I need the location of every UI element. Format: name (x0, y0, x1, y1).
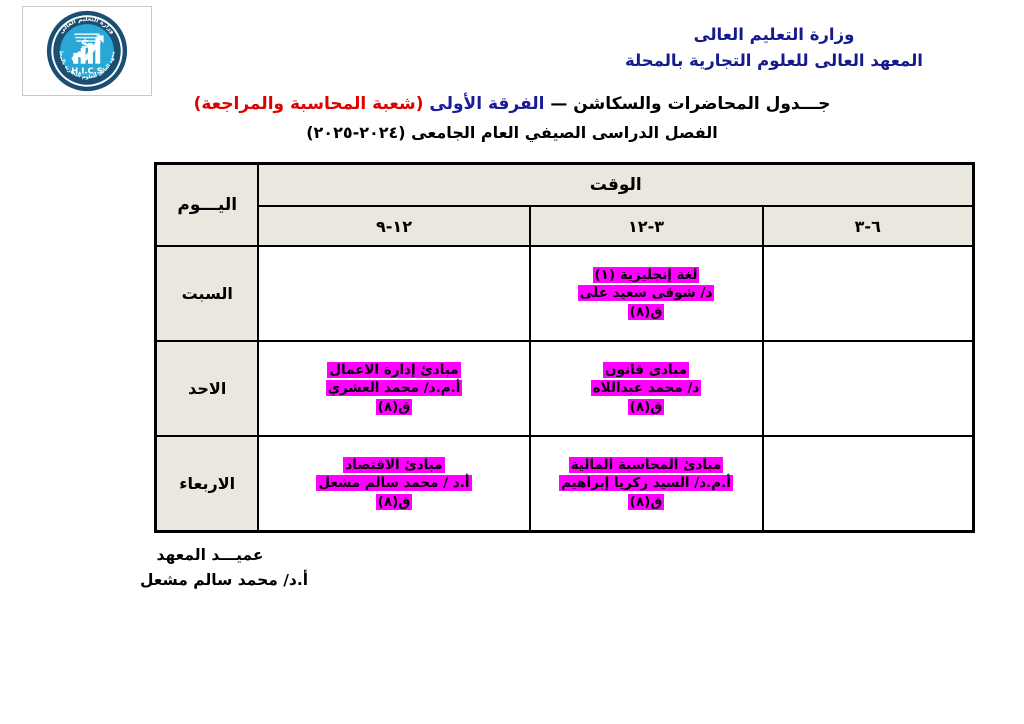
session-block: مبادئ المحاسبة المالية أ.م.د/ السيد زكري… (531, 456, 762, 512)
table-header-row-slots: ٦-٣ ٣-١٢ ١٢-٩ (155, 206, 973, 246)
signature-block: عميـــد المعهد أ.د/ محمد سالم مشعل (105, 543, 315, 593)
slot-header-12-3: ٣-١٢ (530, 206, 763, 246)
session-room: ق(٨) (376, 399, 413, 415)
cell-saturday-3-6[interactable] (763, 246, 974, 341)
schedule-table: الوقت اليـــوم ٦-٣ ٣-١٢ ١٢-٩ (154, 162, 975, 533)
slot-header-9-12: ١٢-٩ (258, 206, 529, 246)
cell-sunday-12-3[interactable]: مبادى قانون د/ محمد عبداللاه ق(٨) (530, 341, 763, 436)
table-row: مبادى قانون د/ محمد عبداللاه ق(٨) مبادئ … (155, 341, 973, 436)
institute-logo: $ H.I.C.S وزارة التعليم العالى المعهد ال… (22, 6, 152, 96)
cell-wednesday-3-6[interactable] (763, 436, 974, 532)
institution-header: وزارة التعليم العالى المعهد العالى للعلو… (564, 22, 984, 73)
logo-micro-text (74, 33, 99, 41)
session-course: مبادئ المحاسبة المالية (569, 457, 724, 473)
cell-sunday-9-12[interactable]: مبادئ إدارة الاعمال أ.م.د/ محمد العشري ق… (258, 341, 529, 436)
table-row: مبادئ المحاسبة المالية أ.م.د/ السيد زكري… (155, 436, 973, 532)
cell-sunday-3-6[interactable] (763, 341, 974, 436)
session-block: لغة إنجليزية (١) د/ شوقى سعيد على ق(٨) (531, 266, 762, 322)
logo-graphic: $ H.I.C.S وزارة التعليم العالى المعهد ال… (23, 7, 151, 95)
session-room: ق(٨) (628, 494, 665, 510)
session-course: مبادى قانون (603, 362, 689, 378)
title-segment-level: الفرقة الأولى (429, 94, 544, 114)
session-instructor: أ.د / محمد سالم مشعل (316, 475, 471, 491)
time-group-header: الوقت (258, 164, 973, 207)
session-block: مبادئ الاقتصاد أ.د / محمد سالم مشعل ق(٨) (259, 456, 528, 512)
title-segment-division: (شعبة المحاسبة والمراجعة) (194, 94, 430, 114)
document-title-area: جـــدول المحاضرات والسكاشن — الفرقة الأو… (0, 92, 1024, 145)
cell-wednesday-12-3[interactable]: مبادئ المحاسبة المالية أ.م.د/ السيد زكري… (530, 436, 763, 532)
day-label-sunday: الاحد (155, 341, 258, 436)
cell-saturday-9-12[interactable] (258, 246, 529, 341)
institute-name: المعهد العالى للعلوم التجارية بالمحلة (564, 48, 984, 74)
session-block: مبادى قانون د/ محمد عبداللاه ق(٨) (531, 361, 762, 417)
schedule-table-wrapper: الوقت اليـــوم ٦-٣ ٣-١٢ ١٢-٩ (157, 162, 975, 533)
session-instructor: أ.م.د/ السيد زكريا إبراهيم (559, 475, 733, 491)
day-label-wednesday: الاربعاء (155, 436, 258, 532)
session-room: ق(٨) (376, 494, 413, 510)
session-room: ق(٨) (628, 304, 665, 320)
session-instructor: د/ شوقى سعيد على (578, 285, 715, 301)
title-segment-schedule: جـــدول المحاضرات والسكاشن — (544, 94, 830, 114)
table-row: لغة إنجليزية (١) د/ شوقى سعيد على ق(٨) ا… (155, 246, 973, 341)
session-instructor: د/ محمد عبداللاه (591, 380, 702, 396)
session-block: مبادئ إدارة الاعمال أ.م.د/ محمد العشري ق… (259, 361, 528, 417)
signature-title: عميـــد المعهد (105, 543, 315, 568)
page-subtitle: الفصل الدراسى الصيفي العام الجامعى (٢٠٢٤… (0, 121, 1024, 146)
cell-saturday-12-3[interactable]: لغة إنجليزية (١) د/ شوقى سعيد على ق(٨) (530, 246, 763, 341)
cell-wednesday-9-12[interactable]: مبادئ الاقتصاد أ.د / محمد سالم مشعل ق(٨) (258, 436, 529, 532)
table-header-row-group: الوقت اليـــوم (155, 164, 973, 207)
day-label-saturday: السبت (155, 246, 258, 341)
page-title: جـــدول المحاضرات والسكاشن — الفرقة الأو… (0, 92, 1024, 118)
ministry-name: وزارة التعليم العالى (564, 22, 984, 48)
session-course: مبادئ إدارة الاعمال (327, 362, 460, 378)
session-room: ق(٨) (628, 399, 665, 415)
session-course: مبادئ الاقتصاد (343, 457, 444, 473)
day-column-header: اليـــوم (155, 164, 258, 247)
slot-header-3-6: ٦-٣ (763, 206, 974, 246)
session-instructor: أ.م.د/ محمد العشري (326, 380, 463, 396)
signature-name: أ.د/ محمد سالم مشعل (105, 568, 343, 593)
session-course: لغة إنجليزية (١) (593, 267, 700, 283)
